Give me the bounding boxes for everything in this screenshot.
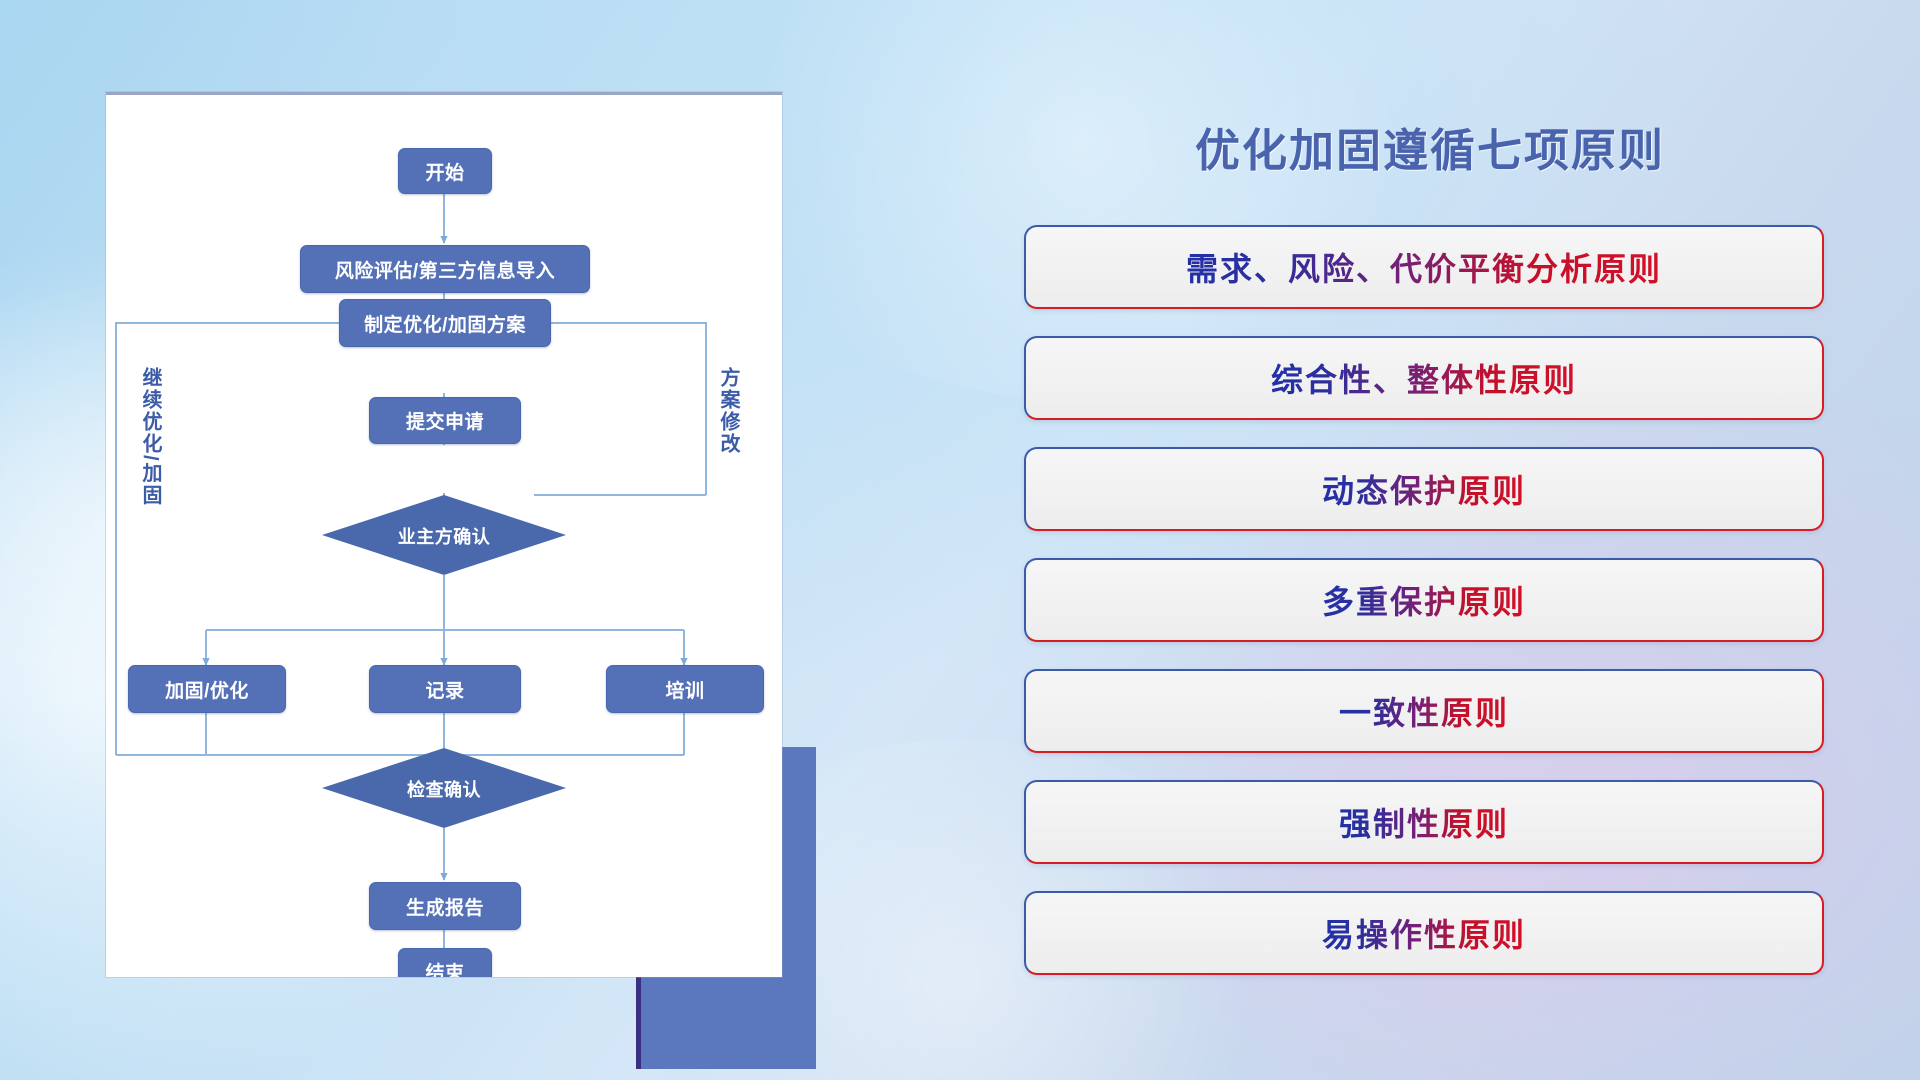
principle-label: 动态保护原则 [1322, 466, 1526, 512]
principle-label: 强制性原则 [1339, 799, 1509, 845]
edge-label-text: 方案修改 [717, 367, 739, 455]
principle-label: 易操作性原则 [1322, 910, 1526, 956]
flow-node-label: 培训 [665, 676, 704, 703]
flow-node-make-plan[interactable]: 制定优化/加固方案 [339, 299, 551, 347]
flow-node-label: 生成报告 [406, 893, 484, 920]
principle-item-4[interactable]: 多重保护原则 [1024, 558, 1824, 642]
edge-label-text: 继续优化/加固 [139, 367, 161, 507]
principle-label: 多重保护原则 [1322, 577, 1526, 623]
principle-item-6[interactable]: 强制性原则 [1024, 780, 1824, 864]
flow-node-label: 制定优化/加固方案 [364, 310, 526, 337]
principle-label: 需求、风险、代价平衡分析原则 [1186, 244, 1662, 290]
flowchart-panel: 开始 风险评估/第三方信息导入 制定优化/加固方案 提交申请 业主方确认 加固/… [106, 92, 786, 972]
flow-node-generate-report[interactable]: 生成报告 [369, 882, 521, 930]
flow-node-start[interactable]: 开始 [398, 148, 492, 194]
flow-node-label: 结束 [425, 958, 464, 978]
flow-node-label: 开始 [425, 158, 464, 185]
flow-node-submit-application[interactable]: 提交申请 [369, 397, 521, 444]
decision-check-confirm-label: 检查确认 [354, 776, 534, 802]
principles-list: 需求、风险、代价平衡分析原则 综合性、整体性原则 动态保护原则 多重保护原则 一… [1024, 225, 1824, 1002]
flow-node-end[interactable]: 结束 [398, 948, 492, 977]
flow-node-reinforce-optimize[interactable]: 加固/优化 [128, 665, 286, 713]
flowchart-card: 开始 风险评估/第三方信息导入 制定优化/加固方案 提交申请 业主方确认 加固/… [106, 92, 782, 977]
flow-node-label: 业主方确认 [398, 527, 491, 547]
flow-edge-label-continue-optimize: 继续优化/加固 [136, 367, 165, 507]
principle-label: 综合性、整体性原则 [1271, 355, 1577, 401]
flow-node-risk-assessment[interactable]: 风险评估/第三方信息导入 [300, 245, 590, 293]
decision-owner-confirm-label: 业主方确认 [354, 523, 534, 549]
flow-node-label: 加固/优化 [165, 676, 249, 703]
principle-item-3[interactable]: 动态保护原则 [1024, 447, 1824, 531]
principle-item-7[interactable]: 易操作性原则 [1024, 891, 1824, 975]
flow-edge-label-plan-revision: 方案修改 [714, 367, 743, 455]
flow-node-record[interactable]: 记录 [369, 665, 521, 713]
principle-item-5[interactable]: 一致性原则 [1024, 669, 1824, 753]
page-title: 优化加固遵循七项原则 [1020, 114, 1840, 179]
principle-label: 一致性原则 [1339, 688, 1509, 734]
flow-node-label: 检查确认 [407, 780, 481, 800]
slide-canvas: 开始 风险评估/第三方信息导入 制定优化/加固方案 提交申请 业主方确认 加固/… [0, 0, 1920, 1080]
flow-node-label: 风险评估/第三方信息导入 [335, 256, 555, 283]
flow-node-label: 记录 [425, 676, 464, 703]
flow-node-label: 提交申请 [406, 407, 484, 434]
principle-item-1[interactable]: 需求、风险、代价平衡分析原则 [1024, 225, 1824, 309]
principles-panel: 优化加固遵循七项原则 需求、风险、代价平衡分析原则 综合性、整体性原则 动态保护… [1020, 92, 1840, 992]
flow-node-training[interactable]: 培训 [606, 665, 764, 713]
principle-item-2[interactable]: 综合性、整体性原则 [1024, 336, 1824, 420]
